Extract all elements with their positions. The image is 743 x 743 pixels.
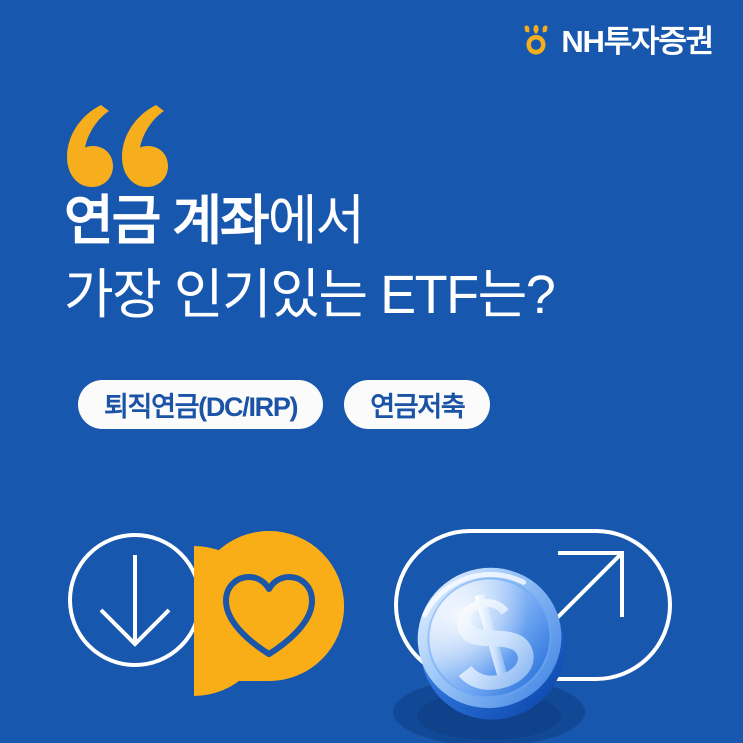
nh-flower-mark-icon [520, 24, 552, 58]
pill-row: 퇴직연금(DC/IRP) 연금저축 [78, 380, 490, 429]
headline-line-1: 연금 계좌에서 [64, 194, 704, 248]
pill-retirement-pension[interactable]: 퇴직연금(DC/IRP) [78, 380, 323, 429]
poster-canvas: NH투자증권 연금 계좌에서 가장 인기있는 ETF는? 퇴직연금(DC/IRP… [0, 0, 743, 743]
double-quote-open-icon [63, 103, 173, 189]
pill-pension-savings[interactable]: 연금저축 [344, 380, 490, 429]
headline-light: 에서 [268, 191, 363, 251]
brand-logo: NH투자증권 [520, 24, 713, 58]
dollar-coin-3d-icon [409, 554, 569, 729]
headline: 연금 계좌에서 가장 인기있는 ETF는? [64, 194, 704, 322]
headline-strong: 연금 계좌 [64, 191, 268, 251]
headline-line-2: 가장 인기있는 ETF는? [64, 268, 704, 322]
circle-arrow-down-icon [70, 535, 200, 665]
brand-name: NH투자증권 [561, 26, 713, 57]
bottom-graphics [0, 500, 743, 743]
speech-bubble-heart-icon [194, 531, 344, 696]
